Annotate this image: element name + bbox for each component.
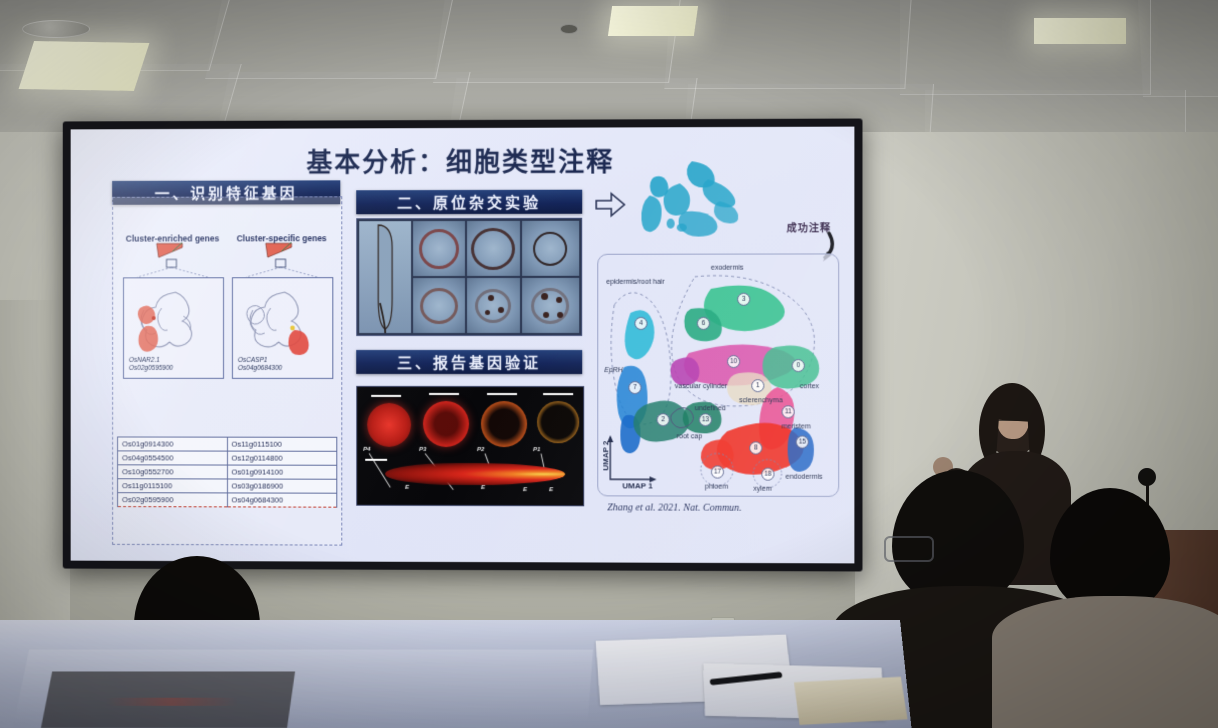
table-row: Os02g0595900Os04g0684300 [118, 493, 337, 508]
gene-id-cell: Os12g0114800 [227, 451, 337, 465]
celltype-label-phloem: phloem [705, 484, 728, 491]
celltype-label-undefined: undefined [695, 405, 726, 412]
cluster-number: 4 [634, 317, 647, 330]
table-reflection-red [105, 698, 238, 706]
gene-id-cell: Os01g0914100 [227, 465, 337, 479]
ceiling [0, 0, 1218, 132]
cluster-number: 6 [697, 317, 710, 330]
gene-id-cell: Os01g0914300 [118, 437, 227, 451]
ceiling-light-panel [608, 6, 698, 36]
micrograph-cross-section [413, 221, 465, 276]
section-three-label: 三、报告基因验证 [397, 351, 541, 372]
smoke-detector-icon [22, 20, 90, 38]
cluster-number: 18 [761, 468, 774, 481]
cluster-number: 8 [749, 441, 762, 454]
celltype-label-endodermis: endodermis [786, 474, 823, 481]
umap-annotated: epidermis/root hair exodermis vascular c… [597, 253, 839, 497]
right-arrow-icon [595, 192, 625, 218]
micrograph-cross-section [413, 278, 465, 333]
table-row: Os04g0554500Os12g0114800 [118, 451, 337, 465]
specific-gene-labels: OsCASP1 Os04g0684300 [238, 357, 282, 373]
notebook[interactable] [794, 677, 908, 725]
cluster-enriched-column: Cluster-enriched genes [121, 233, 224, 428]
celltype-label-cortex: cortex [800, 383, 819, 390]
cluster-number: 17 [711, 465, 724, 478]
reporter-section-p2 [481, 401, 527, 447]
conference-room-scene: 基本分析：细胞类型注释 一、识别特征基因 Cluster-enriched ge… [0, 0, 1218, 728]
section-header-two: 二、原位杂交实验 [356, 190, 582, 215]
enriched-gene-id: Os02g0595900 [129, 365, 173, 372]
middle-column: 二、原位杂交实验 [353, 190, 585, 545]
section-header-three: 三、报告基因验证 [356, 350, 582, 374]
reporter-section-p4 [367, 403, 411, 447]
cluster-number: 11 [782, 405, 795, 418]
umap-inset-enriched: OsNAR2.1 Os02g0595900 [123, 277, 224, 379]
in-situ-hybridization-images [356, 218, 582, 336]
slide-citation: Zhang et al. 2021. Nat. Commun. [607, 502, 742, 513]
funnel-diagram-icon [121, 239, 224, 277]
celltype-label-exodermis: exodermis [711, 265, 744, 272]
audience-torso [992, 596, 1218, 728]
audience-glasses-icon [884, 536, 934, 562]
celltype-label-epidermis: epidermis/root hair [606, 279, 664, 286]
audience-member [1016, 488, 1216, 728]
reporter-tip-label: E [481, 485, 485, 491]
celltype-label-meristem: meristem [782, 423, 811, 430]
celltype-label-root-cap: root cap [677, 433, 702, 440]
cluster-number: 13 [699, 413, 712, 426]
table-row: Os10g0552700Os01g0914100 [118, 465, 337, 479]
micrograph-longitudinal-root [359, 221, 411, 333]
cluster-number: 7 [628, 381, 641, 394]
micrograph-cross-section [467, 221, 519, 276]
umap-inset-specific: OsCASP1 Os04g0684300 [232, 277, 333, 379]
feature-gene-table: Os01g0914300Os11g0115100Os04g0554500Os12… [117, 436, 337, 507]
enriched-gene-symbol: OsNAR2.1 [129, 357, 160, 364]
cluster-number: 15 [796, 435, 809, 448]
micrograph-cross-section [522, 278, 580, 333]
celltype-label-xylem: xylem [753, 486, 771, 493]
conference-table [0, 620, 912, 728]
gene-id-cell: Os11g0115100 [118, 479, 227, 493]
celltype-label-sclerenchyma: sclerenchyma [739, 397, 783, 404]
celltype-label-vascular-cylinder: vascular cylinder [675, 383, 728, 390]
gene-id-cell: Os03g0186900 [227, 479, 337, 493]
micrograph-cross-section [522, 221, 580, 276]
table-row: Os01g0914300Os11g0115100 [118, 437, 337, 451]
section-two-label: 二、原位杂交实验 [397, 191, 541, 212]
gene-id-cell: Os02g0595900 [118, 493, 227, 507]
reporter-label-p1: P1 [533, 447, 540, 453]
group-label-eprh: EpRH [604, 367, 623, 374]
micrograph-cross-section [467, 278, 519, 333]
funnel-diagram-icon [230, 239, 333, 277]
gene-id-cell: Os11g0115100 [227, 437, 337, 451]
cluster-number: 2 [657, 413, 670, 426]
reporter-tip-label: E [523, 487, 527, 493]
cluster-number: 10 [727, 355, 740, 368]
right-column: 成功注释 [593, 157, 839, 549]
ceiling-light-panel [19, 41, 150, 91]
umap-x-axis-label: UMAP 1 [622, 481, 652, 490]
presentation-slide: 基本分析：细胞类型注释 一、识别特征基因 Cluster-enriched ge… [71, 127, 855, 564]
reporter-tip-label: E [405, 485, 409, 491]
cluster-specific-column: Cluster-specific genes [230, 233, 333, 429]
microphone-icon [1138, 468, 1156, 486]
cluster-number: 0 [792, 359, 805, 372]
gene-id-cell: Os04g0684300 [227, 493, 337, 507]
cluster-number: 3 [737, 293, 750, 306]
projection-screen[interactable]: 基本分析：细胞类型注释 一、识别特征基因 Cluster-enriched ge… [63, 119, 863, 572]
gene-id-cell: Os04g0554500 [118, 451, 227, 465]
ceiling-light-panel [1034, 18, 1126, 44]
reporter-section-p3 [423, 401, 469, 447]
umap-unannotated [623, 157, 784, 246]
reporter-gene-validation-images: P4 P3 P2 P1 E E E E [356, 386, 584, 506]
reporter-tip-label: E [549, 487, 553, 493]
feature-gene-panel: Cluster-enriched genes [112, 196, 342, 545]
table-row: Os11g0115100Os03g0186900 [118, 479, 337, 493]
cluster-number: 1 [751, 379, 764, 392]
ceiling-speaker-icon [560, 24, 578, 34]
reporter-section-p1 [537, 401, 579, 443]
gene-id-cell: Os10g0552700 [118, 465, 227, 479]
specific-gene-symbol: OsCASP1 [238, 357, 267, 364]
room-wall-left [0, 300, 70, 640]
specific-gene-id: Os04g0684300 [238, 365, 282, 372]
umap-y-axis-label: UMAP 2 [601, 441, 610, 471]
reporter-label-p2: P2 [477, 447, 484, 453]
enriched-gene-labels: OsNAR2.1 Os02g0595900 [129, 357, 173, 373]
